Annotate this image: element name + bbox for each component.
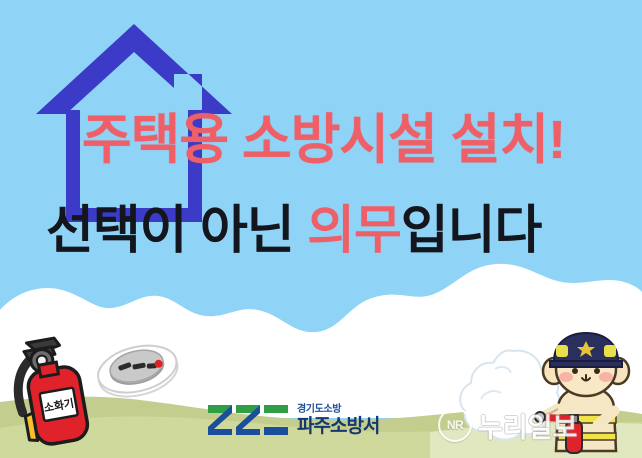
dept-agency-large: 파주소방서 (297, 417, 379, 436)
dept-logo-text: 경기도소방 파주소방서 (297, 405, 379, 436)
fire-safety-poster: 주택용 소방시설 설치! 선택이 아닌 의무입니다 (0, 0, 642, 458)
watermark-badge-icon: NR (438, 408, 472, 442)
headline-line-2-highlight: 의무 (307, 202, 401, 260)
watermark: NR 누리일보 (438, 405, 577, 445)
smoke-detector-icon (88, 337, 188, 407)
headline-line-2-prefix: 선택이 아닌 (46, 202, 307, 260)
headline-line-1: 주택용 소방시설 설치! (82, 113, 565, 167)
headline-line-2-suffix: 입니다 (401, 202, 542, 260)
headline-line-2: 선택이 아닌 의무입니다 (46, 205, 541, 257)
dept-agency-small: 경기도소방 (297, 405, 379, 415)
gyeonggi-fire-mark-icon (208, 403, 290, 437)
dept-logo: 경기도소방 파주소방서 (208, 398, 379, 442)
watermark-text: 누리일보 (478, 406, 577, 445)
